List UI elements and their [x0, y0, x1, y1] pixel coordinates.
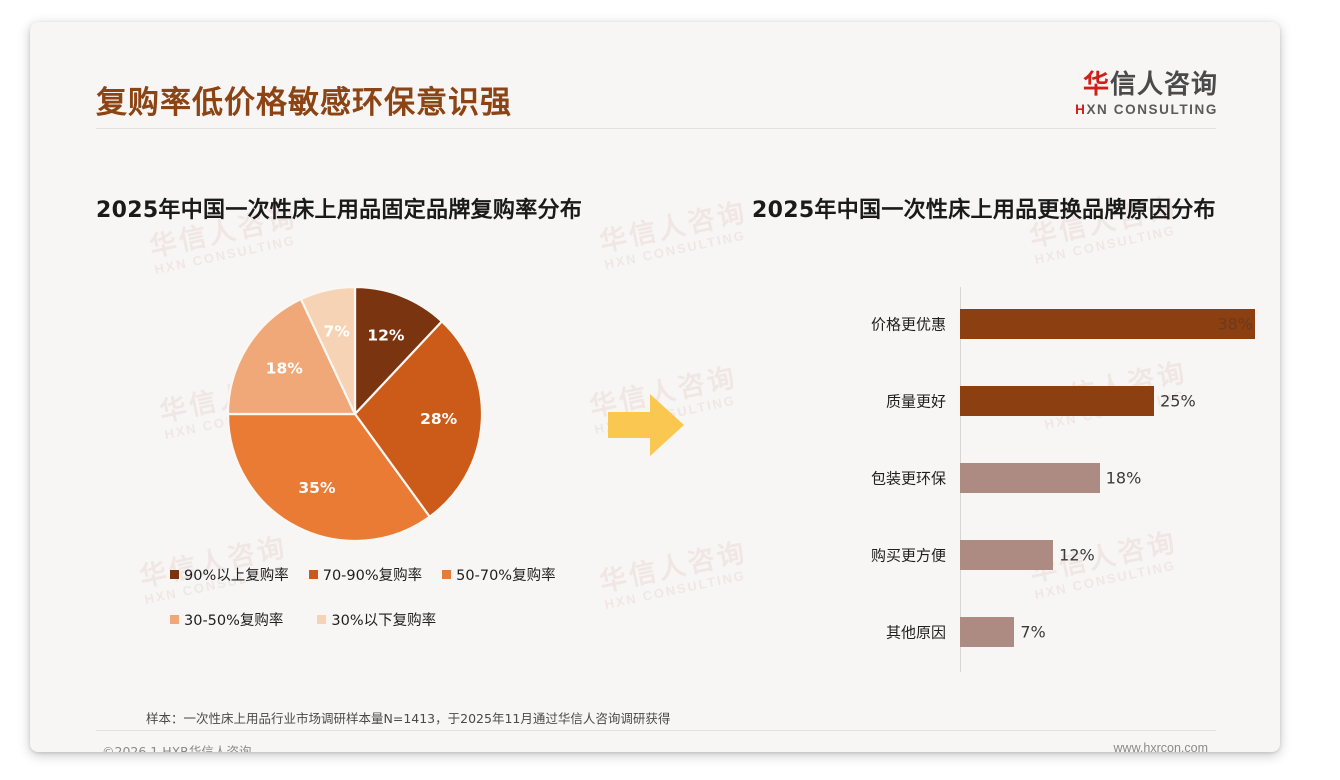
bar-category-label: 包装更环保 [871, 468, 946, 489]
logo-chinese-rest: 信人咨询 [1110, 70, 1218, 100]
pie-slice-label: 28% [420, 410, 458, 428]
bar-fill[interactable] [960, 540, 1053, 570]
legend-row: 30-50%复购率 30%以下复购率 [170, 609, 600, 630]
legend-swatch-icon [317, 615, 326, 624]
pie-legend: 90%以上复购率 70-90%复购率 50-70%复购率 30-50%复购率 3… [170, 564, 600, 654]
footer-copyright: ©2026.1 HXR华信人咨询 [102, 741, 251, 752]
bar-fill[interactable] [960, 463, 1100, 493]
page-title: 复购率低价格敏感环保意识强 [96, 77, 512, 122]
watermark: 华信人咨询HXN CONSULTING [597, 537, 753, 613]
header-divider [96, 128, 1216, 129]
bar-row: 购买更方便12% [960, 540, 1053, 570]
legend-label: 30-50%复购率 [184, 609, 283, 630]
brand-switch-reason-bar-chart: 价格更优惠38%质量更好25%包装更环保18%购买更方便12%其他原因7% [960, 287, 1260, 672]
slide-canvas: 华信人咨询HXN CONSULTING 华信人咨询HXN CONSULTING … [30, 22, 1280, 752]
bar-row: 包装更环保18% [960, 463, 1100, 493]
bar-value-label: 38% [1217, 315, 1253, 334]
legend-swatch-icon [170, 570, 179, 579]
arrow-svg [608, 394, 684, 456]
company-logo: 华信人咨询 HXN CONSULTING [1075, 72, 1218, 117]
footer-website: www.hxrcon.com [1114, 741, 1208, 752]
watermark: 华信人咨询HXN CONSULTING [597, 197, 753, 273]
pie-svg: 12%28%35%18%7% [225, 284, 485, 544]
bar-value-label: 12% [1059, 546, 1095, 565]
pie-slice-label: 7% [324, 323, 351, 341]
slide-header: 复购率低价格敏感环保意识强 华信人咨询 HXN CONSULTING [30, 22, 1280, 122]
bar-row: 价格更优惠38% [960, 309, 1255, 339]
right-arrow-icon [608, 394, 684, 461]
logo-en-rest: XN CONSULTING [1086, 102, 1218, 117]
repurchase-rate-pie-chart: 12%28%35%18%7% [225, 284, 485, 544]
legend-label: 90%以上复购率 [184, 564, 289, 585]
bar-value-label: 25% [1160, 392, 1196, 411]
logo-chinese: 华信人咨询 [1075, 72, 1218, 99]
bar-row: 质量更好25% [960, 386, 1154, 416]
footer-divider [96, 730, 1216, 731]
legend-row: 90%以上复购率 70-90%复购率 50-70%复购率 [170, 564, 600, 585]
legend-item-2[interactable]: 50-70%复购率 [442, 564, 555, 585]
legend-label: 50-70%复购率 [456, 564, 555, 585]
footnote: 样本：一次性床上用品行业市场调研样本量N=1413，于2025年11月通过华信人… [146, 708, 670, 727]
pie-slice-label: 35% [298, 479, 336, 497]
pie-slice-label: 12% [367, 327, 405, 345]
bar-value-label: 18% [1106, 469, 1142, 488]
legend-item-4[interactable]: 30%以下复购率 [317, 609, 436, 630]
legend-swatch-icon [309, 570, 318, 579]
bar-fill[interactable] [960, 309, 1255, 339]
pie-slice-label: 18% [266, 360, 304, 378]
legend-item-3[interactable]: 30-50%复购率 [170, 609, 283, 630]
bar-category-label: 质量更好 [886, 391, 946, 412]
logo-english: HXN CONSULTING [1075, 102, 1218, 117]
bar-row: 其他原因7% [960, 617, 1014, 647]
legend-label: 30%以下复购率 [331, 609, 436, 630]
bar-category-label: 价格更优惠 [871, 314, 946, 335]
legend-item-0[interactable]: 90%以上复购率 [170, 564, 289, 585]
bar-category-label: 购买更方便 [871, 545, 946, 566]
bar-value-label: 7% [1020, 623, 1045, 642]
right-chart-title: 2025年中国一次性床上用品更换品牌原因分布 [752, 192, 1216, 224]
logo-en-accent: H [1075, 102, 1086, 117]
logo-accent-char: 华 [1083, 70, 1110, 100]
legend-item-1[interactable]: 70-90%复购率 [309, 564, 422, 585]
bar-fill[interactable] [960, 617, 1014, 647]
bar-category-label: 其他原因 [886, 622, 946, 643]
left-chart-title: 2025年中国一次性床上用品固定品牌复购率分布 [96, 192, 582, 224]
legend-swatch-icon [442, 570, 451, 579]
legend-label: 70-90%复购率 [323, 564, 422, 585]
bar-fill[interactable] [960, 386, 1154, 416]
legend-swatch-icon [170, 615, 179, 624]
